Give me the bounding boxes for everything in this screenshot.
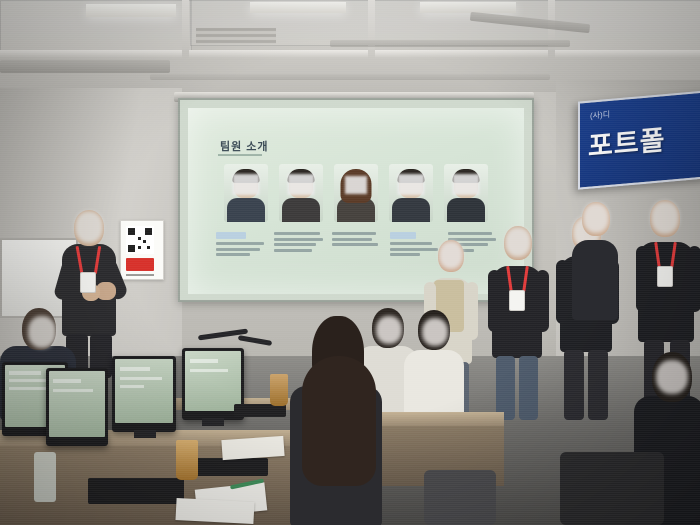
ceiling-light	[86, 4, 176, 17]
ceiling-light	[420, 2, 516, 13]
chair-back	[560, 452, 664, 525]
slide-avatar	[224, 164, 268, 222]
keyboard[interactable]	[88, 478, 184, 504]
iced-coffee-cup[interactable]	[270, 374, 288, 406]
slide-caption-col	[274, 232, 324, 259]
monitor-screen	[49, 371, 105, 437]
seated-person-center	[288, 316, 384, 525]
standing-person-4	[566, 200, 622, 320]
photo-scene: 팀원 소개	[0, 0, 700, 525]
desk-right	[372, 412, 504, 426]
slide-avatar	[444, 164, 488, 222]
water-bottle[interactable]	[34, 452, 56, 502]
ceiling-duct	[0, 60, 170, 73]
slide-title: 팀원 소개	[220, 138, 269, 154]
slide-avatar	[389, 164, 433, 222]
ceiling-pipe	[150, 74, 550, 80]
slide-avatar-row	[224, 164, 488, 226]
monitor-stand	[134, 430, 156, 438]
monitor	[112, 356, 176, 432]
keyboard[interactable]	[196, 458, 268, 476]
standing-person-2	[488, 222, 550, 422]
long-hair	[302, 356, 376, 486]
iced-coffee-cup[interactable]	[176, 440, 198, 480]
seated-person-5	[404, 308, 466, 428]
slide-caption-col	[332, 232, 382, 259]
monitor-screen	[185, 351, 241, 411]
monitor-screen	[115, 359, 173, 423]
banner-text: 포트폴	[588, 118, 666, 164]
slide-avatar	[334, 164, 378, 222]
banner-subtext: (사)디	[590, 109, 610, 122]
wall-vent	[196, 28, 276, 44]
chair-back	[424, 470, 496, 525]
wall-banner: (사)디 포트폴	[578, 90, 700, 189]
printed-paper[interactable]	[175, 498, 254, 524]
slide-avatar	[279, 164, 323, 222]
ceiling-light	[250, 2, 346, 13]
ceiling-beam	[368, 0, 375, 58]
monitor-stand	[202, 418, 224, 426]
ceiling-duct	[330, 40, 570, 47]
monitor	[46, 368, 108, 446]
ceiling-beam	[0, 50, 700, 58]
slide-caption-col	[216, 232, 266, 259]
projection-screen: 팀원 소개	[178, 98, 534, 302]
slide-title-underline	[218, 154, 262, 156]
ceiling-beam	[182, 0, 189, 58]
